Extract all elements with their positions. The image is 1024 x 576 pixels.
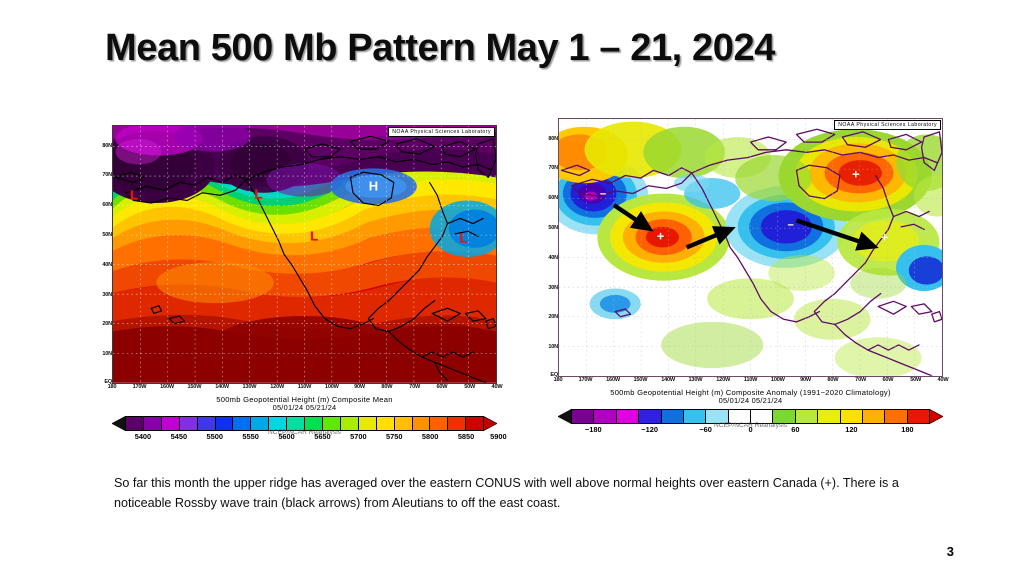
y-tick: 10N <box>102 351 112 357</box>
x-tick: 80W <box>827 377 838 383</box>
x-tick: 160W <box>606 377 620 383</box>
x-tick: 50W <box>464 384 475 390</box>
x-tick: 130W <box>243 384 257 390</box>
composite-anomaly-caption: 500mb Geopotential Height (m) Composite … <box>558 388 943 406</box>
composite-anomaly-map[interactable]: NOAA Physical Sciences Laboratory − + − … <box>558 118 943 377</box>
x-tick: 70W <box>409 384 420 390</box>
composite-mean-map-wrap: NOAA Physical Sciences Laboratory L L L … <box>112 125 497 384</box>
colorbar-swatches <box>571 409 930 424</box>
colorbar-tick: 5550 <box>242 432 258 441</box>
colorbar-right-cap-icon <box>929 409 943 424</box>
y-tick: 60N <box>548 195 558 201</box>
y-tick: 70N <box>548 165 558 171</box>
y-tick: 10N <box>548 344 558 350</box>
x-tick: 40W <box>938 377 949 383</box>
colorbar-tick: 5650 <box>314 432 330 441</box>
colorbar-ticks: −180 −120 −60 0 60 120 180 <box>571 425 930 437</box>
colorbar-tick: 5900 <box>490 432 506 441</box>
x-tick: 110W <box>298 384 312 390</box>
composite-anomaly-colorbar: −180 −120 −60 0 60 120 180 NCEP/NCAR Rea… <box>558 409 943 437</box>
x-tick: 160W <box>160 384 174 390</box>
x-tick: 150W <box>633 377 647 383</box>
x-tick: 120W <box>270 384 284 390</box>
page-title: Mean 500 Mb Pattern May 1 – 21, 2024 <box>105 27 925 70</box>
noaa-credit-label: NOAA Physical Sciences Laboratory <box>388 127 495 137</box>
x-tick: 60W <box>882 377 893 383</box>
slide-body-text: So far this month the upper ridge has av… <box>114 473 936 514</box>
colorbar-tick: −120 <box>641 425 658 434</box>
colorbar-tick: 5600 <box>278 432 294 441</box>
colorbar-tick: −60 <box>699 425 712 434</box>
latitude-axis-right: 80N 70N 60N 50N 40N 30N 20N 10N EQ <box>538 118 560 377</box>
caption-date: 05/01/24 05/21/24 <box>558 396 943 405</box>
y-tick: 30N <box>102 292 112 298</box>
colorbar-right-cap-icon <box>483 416 497 431</box>
noaa-credit-label: NOAA Physical Sciences Laboratory <box>834 120 941 130</box>
x-tick: 170W <box>579 377 593 383</box>
longitude-axis-right: 180 170W 160W 150W 140W 130W 120W 110W 1… <box>558 377 943 389</box>
colorbar-swatches <box>125 416 484 431</box>
colorbar-left-cap-icon <box>112 416 126 431</box>
y-tick: 50N <box>102 232 112 238</box>
x-tick: 170W <box>133 384 147 390</box>
y-tick: 60N <box>102 202 112 208</box>
colorbar-tick: 5500 <box>207 432 223 441</box>
longitude-axis-left: 180 170W 160W 150W 140W 130W 120W 110W 1… <box>112 384 497 396</box>
y-tick: 80N <box>548 136 558 142</box>
x-tick: 140W <box>661 377 675 383</box>
caption-date: 05/01/24 05/21/24 <box>112 403 497 412</box>
composite-mean-canvas <box>113 126 496 383</box>
colorbar-tick: 5400 <box>135 432 151 441</box>
x-tick: 180 <box>554 377 563 383</box>
composite-mean-colorbar: 5400 5450 5500 5550 5600 5650 5700 5750 … <box>112 416 497 444</box>
x-tick: 70W <box>855 377 866 383</box>
colorbar-tick: 5700 <box>350 432 366 441</box>
colorbar-tick: 180 <box>901 425 913 434</box>
page-number: 3 <box>947 544 954 559</box>
x-tick: 60W <box>436 384 447 390</box>
y-tick: 50N <box>548 225 558 231</box>
colorbar-left-cap-icon <box>558 409 572 424</box>
colorbar-tick: 5800 <box>422 432 438 441</box>
colorbar-tick: 120 <box>845 425 857 434</box>
x-tick: 150W <box>187 384 201 390</box>
x-tick: 80W <box>381 384 392 390</box>
composite-mean-map[interactable]: NOAA Physical Sciences Laboratory L L L … <box>112 125 497 384</box>
y-tick: 30N <box>548 285 558 291</box>
colorbar-tick: 60 <box>791 425 799 434</box>
colorbar-tick: 5850 <box>458 432 474 441</box>
x-tick: 90W <box>354 384 365 390</box>
y-tick: 80N <box>102 143 112 149</box>
y-tick: 20N <box>548 314 558 320</box>
latitude-axis-left: 80N 70N 60N 50N 40N 30N 20N 10N EQ <box>92 125 114 384</box>
x-tick: 100W <box>771 377 785 383</box>
y-tick: 70N <box>102 172 112 178</box>
composite-mean-figure: NOAA Physical Sciences Laboratory L L L … <box>112 125 497 444</box>
colorbar-tick: −180 <box>585 425 602 434</box>
y-tick: 40N <box>548 255 558 261</box>
x-tick: 180 <box>108 384 117 390</box>
x-tick: 130W <box>689 377 703 383</box>
x-tick: 40W <box>492 384 503 390</box>
composite-anomaly-figure: NOAA Physical Sciences Laboratory − + − … <box>558 118 943 437</box>
x-tick: 90W <box>800 377 811 383</box>
x-tick: 110W <box>744 377 758 383</box>
x-tick: 100W <box>325 384 339 390</box>
colorbar-tick: 5450 <box>171 432 187 441</box>
composite-mean-caption: 500mb Geopotential Height (m) Composite … <box>112 395 497 413</box>
y-tick: 20N <box>102 321 112 327</box>
x-tick: 120W <box>716 377 730 383</box>
colorbar-tick: 5750 <box>386 432 402 441</box>
colorbar-ticks: 5400 5450 5500 5550 5600 5650 5700 5750 … <box>125 432 484 444</box>
y-tick: 40N <box>102 262 112 268</box>
composite-anomaly-map-wrap: NOAA Physical Sciences Laboratory − + − … <box>558 118 943 377</box>
x-tick: 50W <box>910 377 921 383</box>
composite-anomaly-canvas <box>559 119 942 376</box>
colorbar-tick: 0 <box>748 425 752 434</box>
x-tick: 140W <box>215 384 229 390</box>
